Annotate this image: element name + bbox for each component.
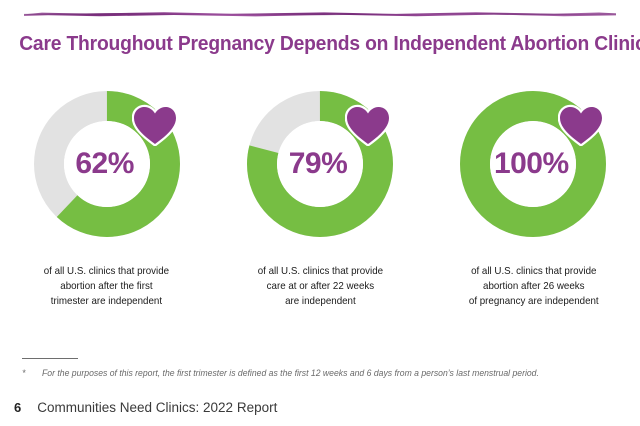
donut-chart-2: 79% of all U.S. clinics that provide car… <box>220 84 420 309</box>
document-title: Communities Need Clinics: 2022 Report <box>37 400 277 415</box>
donut-chart-3: 100% of all U.S. clinics that provide ab… <box>433 84 633 309</box>
donut-chart-row: 62% of all U.S. clinics that provide abo… <box>0 84 640 309</box>
donut-graphic-2: 79% <box>235 84 405 244</box>
donut-chart-1: 62% of all U.S. clinics that provide abo… <box>7 84 207 309</box>
footnote-marker: * <box>22 367 28 380</box>
donut-graphic-3: 100% <box>448 84 618 244</box>
footnote-text: For the purposes of this report, the fir… <box>42 367 539 380</box>
footnote-divider <box>22 358 78 359</box>
donut-graphic-1: 62% <box>22 84 192 244</box>
donut-caption-2: of all U.S. clinics that provide care at… <box>257 264 382 309</box>
page-title: Care Throughout Pregnancy Depends on Ind… <box>19 32 621 56</box>
donut-caption-1: of all U.S. clinics that provide abortio… <box>44 264 169 309</box>
donut-caption-3: of all U.S. clinics that provide abortio… <box>468 264 598 309</box>
footnote: * For the purposes of this report, the f… <box>22 367 622 380</box>
page-footer: 6 Communities Need Clinics: 2022 Report <box>14 400 277 415</box>
page-number: 6 <box>14 400 21 415</box>
top-brush-rule-decoration <box>24 10 616 17</box>
